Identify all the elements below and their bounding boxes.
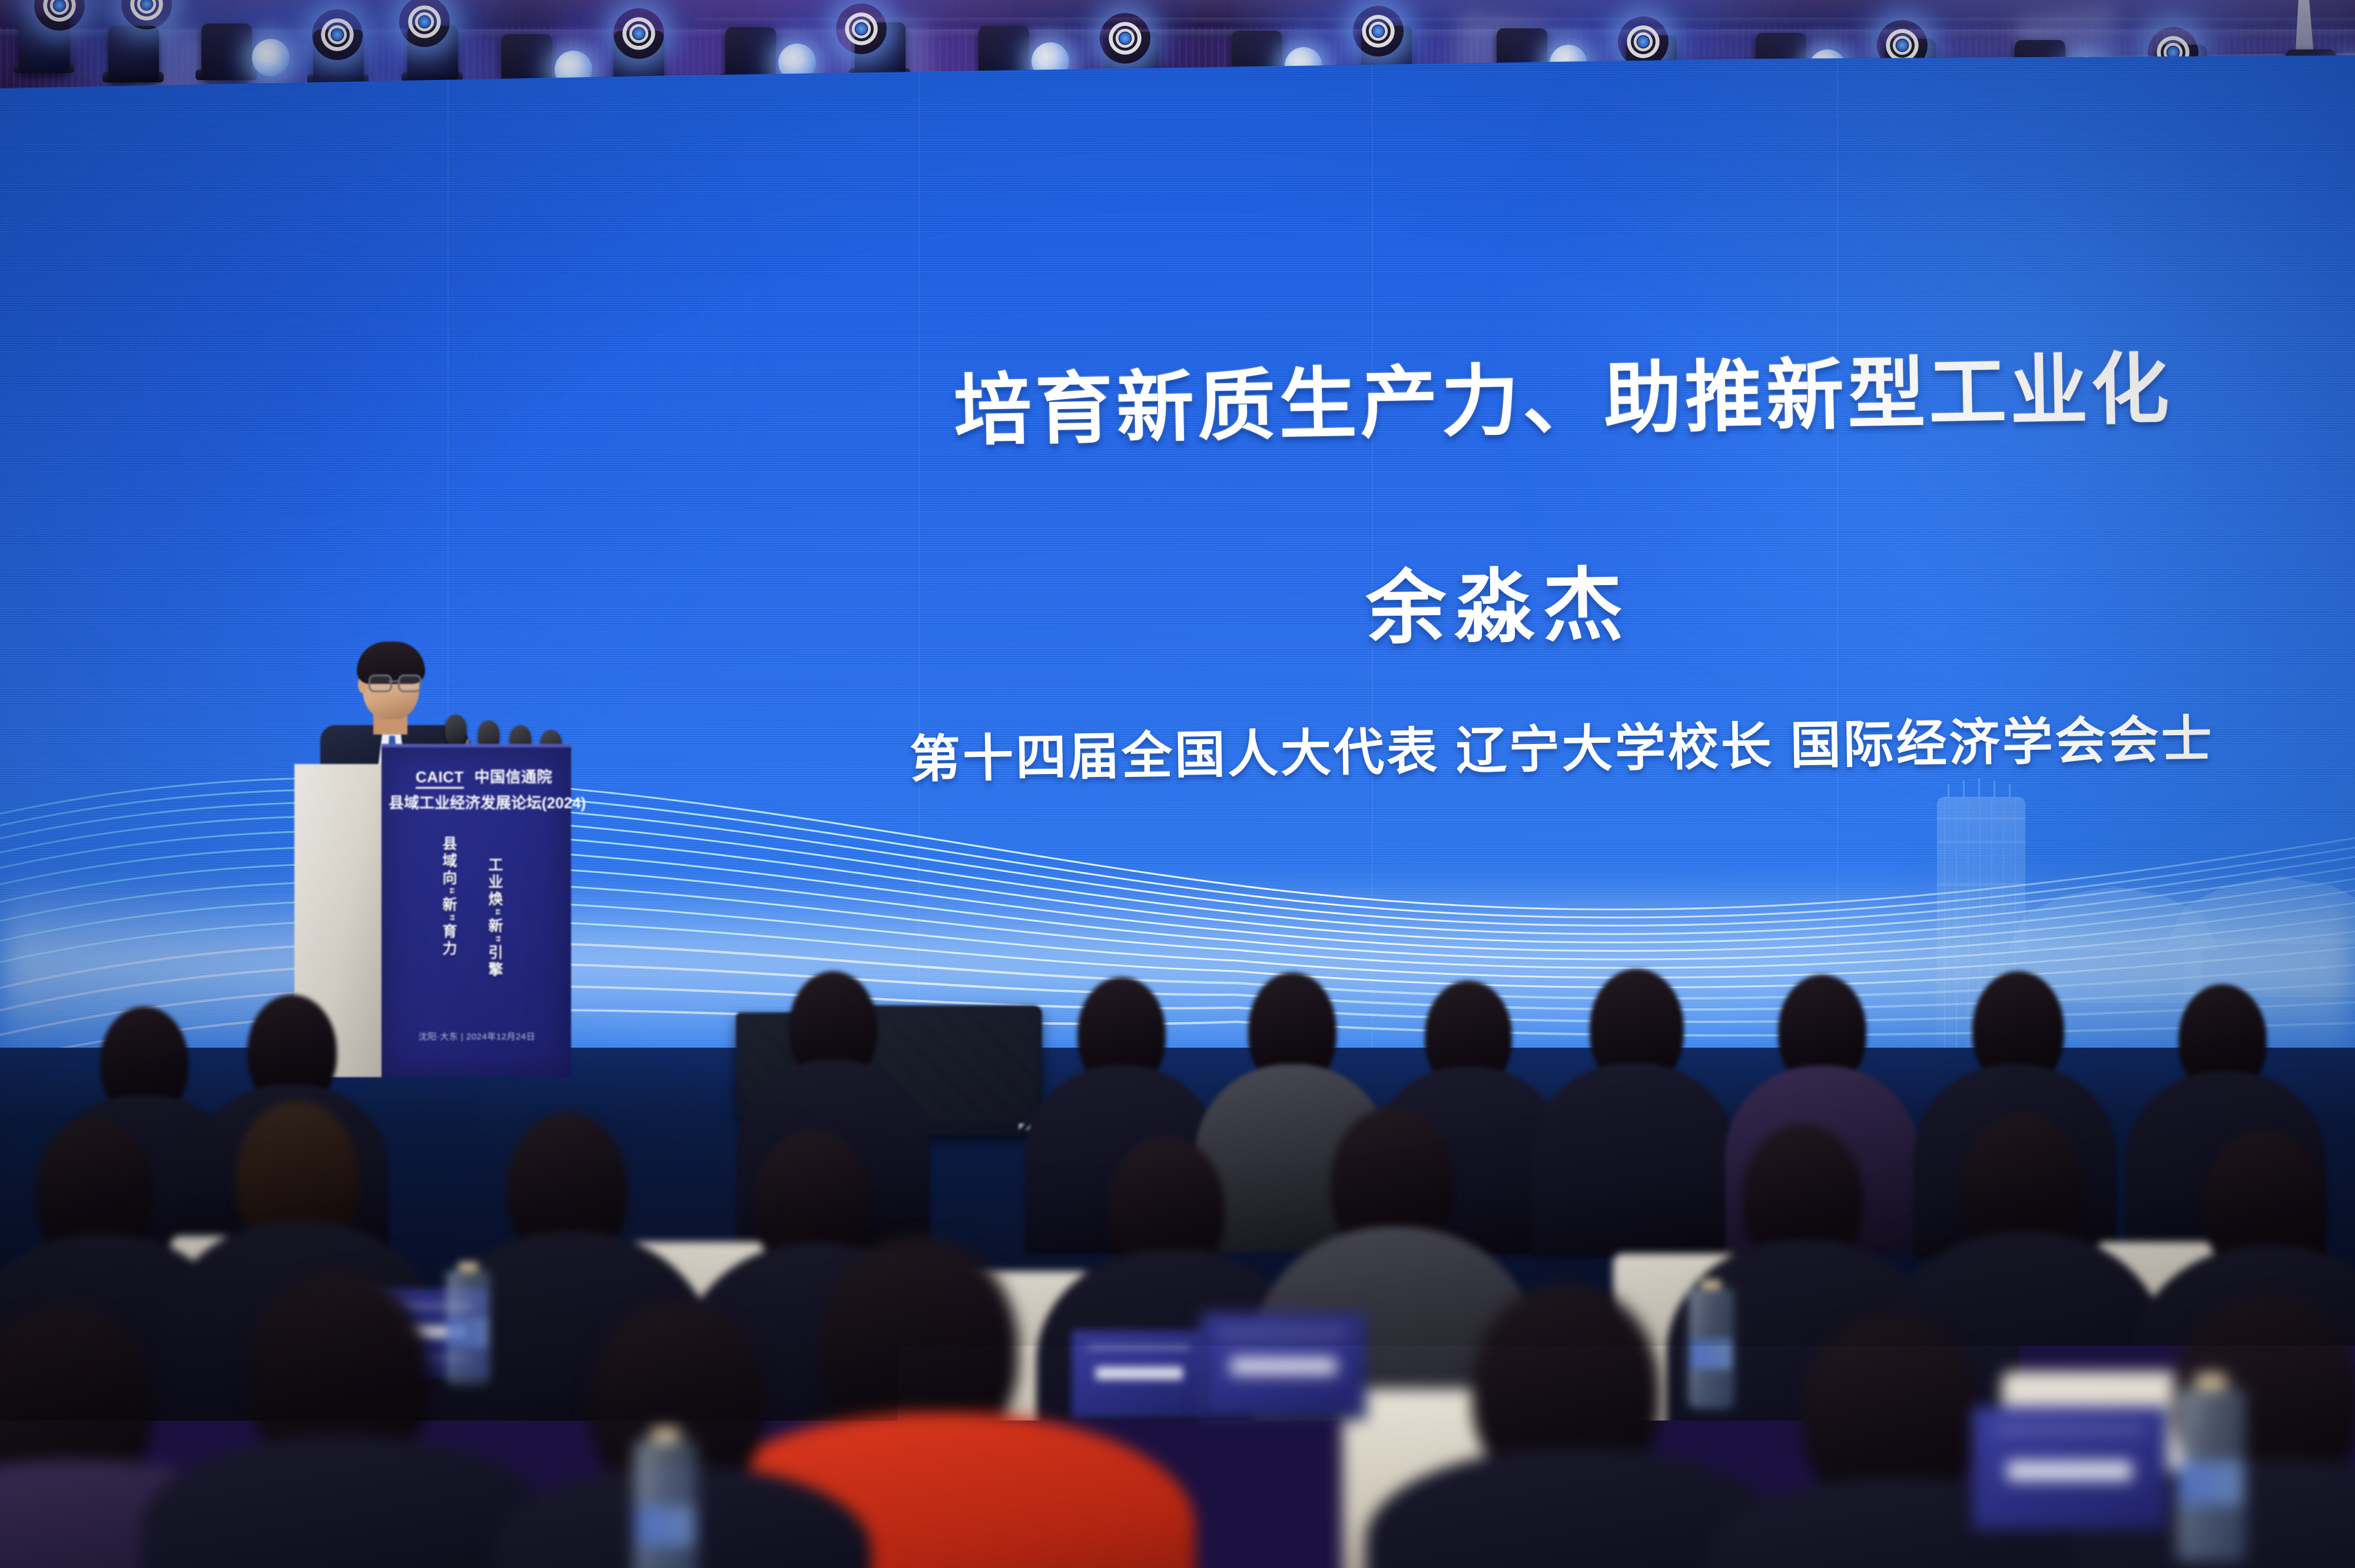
presentation-title: 培育新质生产力、助推新型工业化	[953, 328, 2073, 461]
stage-light-halo-icon	[1618, 16, 1669, 67]
eyeglasses-icon	[369, 675, 418, 690]
placard-name-text	[1230, 1357, 1336, 1375]
conference-photo-scene: 培育新质生产力、助推新型工业化 余淼杰 第十四届全国人大代表 辽宁大学校长 国际…	[0, 0, 2355, 1568]
bottle-label	[636, 1506, 695, 1546]
bottle-cap	[2195, 1374, 2227, 1390]
stage-light-halo-icon	[1100, 13, 1150, 64]
ceiling-beam	[695, 18, 2355, 24]
placard-name-text	[2007, 1461, 2131, 1481]
bottle-label	[2178, 1461, 2243, 1505]
name-placard	[1201, 1313, 1366, 1418]
speaker-name: 余淼杰	[1365, 540, 1632, 660]
stage-light-halo-icon	[1353, 6, 1404, 57]
stage-light-halo-icon	[836, 4, 887, 54]
caict-logo-text: CAICT	[416, 768, 464, 789]
audience-row-foreground	[0, 1248, 2355, 1568]
placard-top-text	[1996, 1428, 2144, 1431]
organization-cn-label: 中国信通院	[475, 768, 553, 786]
audience-shoulders	[141, 1436, 553, 1568]
water-bottle	[2178, 1389, 2243, 1560]
bottle-cap	[651, 1428, 679, 1443]
placard-top-text	[1221, 1331, 1346, 1335]
podium-forum-title: 县域工业经济发展论坛(2024)	[389, 791, 570, 813]
podium-organization: CAICT 中国信通院	[398, 765, 570, 787]
water-bottle	[636, 1442, 695, 1568]
name-placard	[1972, 1407, 2167, 1530]
